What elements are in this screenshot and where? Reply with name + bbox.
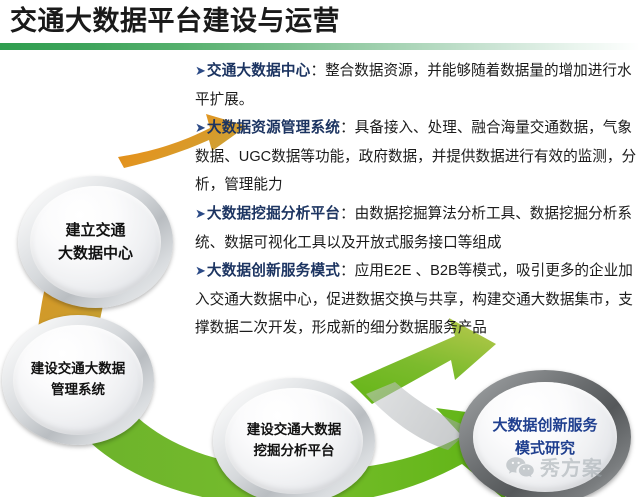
node-label-line1: 大数据创新服务 — [492, 414, 597, 437]
bullet-list: ➤交通大数据中心：整合数据资源，并能够随着数据量的增加进行水平扩展。 ➤大数据资… — [195, 57, 640, 343]
bullet-lead-3: 大数据挖掘分析平台 — [207, 206, 340, 222]
bullet-separator-1: ： — [310, 63, 325, 79]
bullet-item-4: ➤大数据创新服务模式：应用E2E 、B2B等模式，吸引更多的企业加入交通大数据中… — [195, 257, 640, 343]
bullet-marker-icon: ➤ — [195, 120, 206, 135]
bullet-item-1: ➤交通大数据中心：整合数据资源，并能够随着数据量的增加进行水平扩展。 — [195, 57, 640, 114]
node-inner: 建设交通大数据 挖掘分析平台 — [225, 388, 363, 494]
page-title: 交通大数据平台建设与运营 — [10, 4, 340, 38]
node-label-line1: 建设交通大数据 — [247, 420, 342, 441]
node-label-line1: 建设交通大数据 — [31, 359, 126, 380]
bullet-separator-4: ： — [340, 263, 355, 279]
bullet-item-3: ➤大数据挖掘分析平台：由数据挖掘算法分析工具、数据挖掘分析系统、数据可视化工具以… — [195, 200, 640, 257]
bullet-lead-4: 大数据创新服务模式 — [207, 263, 340, 279]
flow-node-mining-platform[interactable]: 建设交通大数据 挖掘分析平台 — [213, 378, 375, 497]
bullet-separator-2: ： — [340, 120, 355, 136]
flow-node-management-system[interactable]: 建设交通大数据 管理系统 — [2, 315, 154, 445]
bullet-lead-1: 交通大数据中心 — [207, 63, 311, 79]
node-inner: 建立交通 大数据中心 — [30, 186, 161, 298]
slide-canvas: 交通大数据平台建设与运营 — [0, 0, 640, 497]
bullet-lead-2: 大数据资源管理系统 — [207, 120, 340, 136]
node-label-line2: 挖掘分析平台 — [254, 441, 335, 462]
bullet-marker-icon: ➤ — [195, 206, 206, 221]
node-label-line1: 建立交通 — [65, 219, 125, 242]
bullet-item-2: ➤大数据资源管理系统：具备接入、处理、融合海量交通数据，气象数据、UGC数据等功… — [195, 114, 640, 200]
bullet-marker-icon: ➤ — [195, 63, 206, 78]
watermark-label: 秀方案 — [540, 452, 603, 481]
wechat-icon — [505, 455, 535, 479]
bullet-marker-icon: ➤ — [195, 263, 206, 278]
node-inner: 建设交通大数据 管理系统 — [13, 325, 143, 435]
node-label-line2: 大数据中心 — [58, 242, 133, 265]
flow-node-build-data-center[interactable]: 建立交通 大数据中心 — [18, 176, 173, 308]
title-underline-rule — [0, 43, 640, 50]
bullet-separator-3: ： — [340, 206, 355, 222]
node-label-line2: 管理系统 — [51, 380, 105, 401]
watermark: 秀方案 — [505, 452, 603, 481]
slide-header: 交通大数据平台建设与运营 — [0, 0, 640, 52]
